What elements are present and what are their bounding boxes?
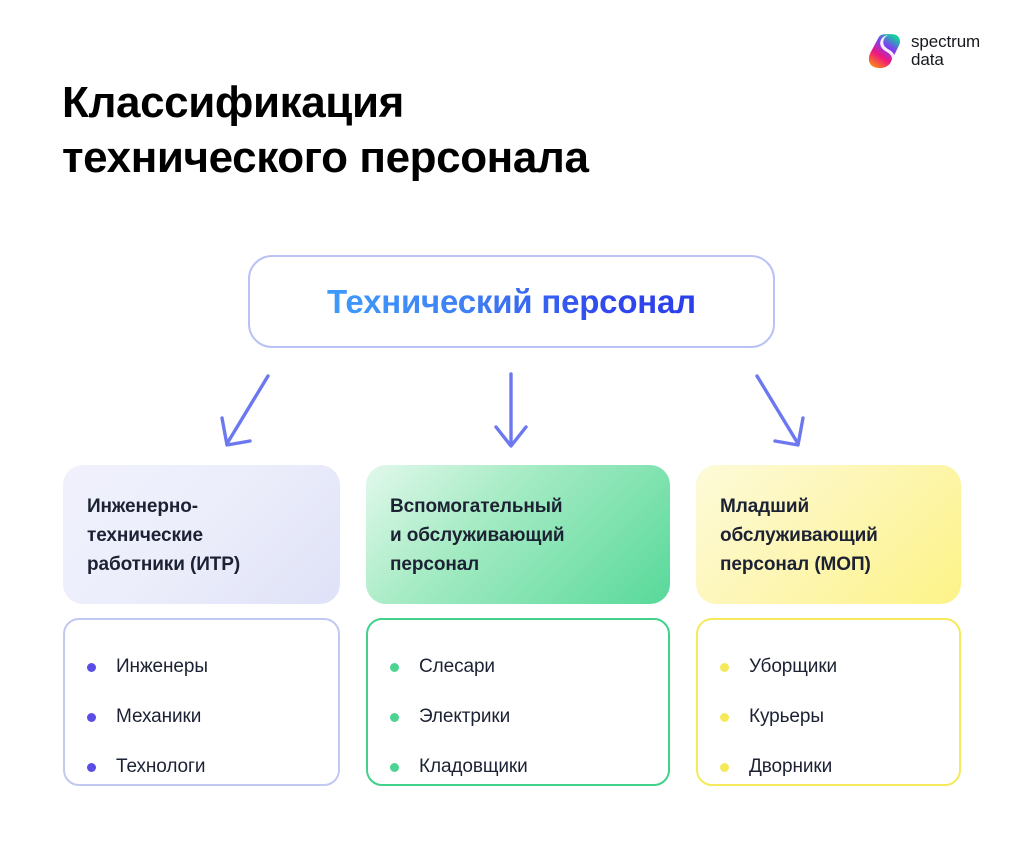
list-item-label: Дворники: [749, 756, 832, 778]
spectrum-s-mark-icon: [868, 33, 902, 69]
branch-support: Вспомогательный и обслуживающий персонал…: [366, 465, 670, 786]
list-item: Механики: [87, 692, 318, 742]
category-line: Младший: [720, 496, 809, 517]
category-line: и обслуживающий: [390, 525, 565, 546]
infographic-page: spectrum data Классификация технического…: [0, 0, 1024, 844]
bullet-icon: [87, 663, 96, 672]
bullet-icon: [390, 763, 399, 772]
category-line: Вспомогательный: [390, 496, 563, 517]
role-list-mop: Уборщики Курьеры Дворники: [696, 618, 961, 786]
page-title-line2: технического персонала: [62, 130, 762, 185]
brand-logo: spectrum data: [868, 33, 980, 69]
category-card-support: Вспомогательный и обслуживающий персонал: [366, 465, 670, 604]
page-title: Классификация технического персонала: [62, 75, 762, 186]
list-item-label: Слесари: [419, 656, 495, 678]
root-node: Технический персонал: [248, 255, 775, 348]
category-line: персонал (МОП): [720, 554, 871, 575]
role-list-support: Слесари Электрики Кладовщики: [366, 618, 670, 786]
list-item: Технологи: [87, 742, 318, 792]
list-item-label: Механики: [116, 706, 201, 728]
role-list-itr: Инженеры Механики Технологи: [63, 618, 340, 786]
arrow-to-itr: [222, 376, 268, 445]
bullet-icon: [390, 663, 399, 672]
bullet-icon: [87, 763, 96, 772]
list-item: Дворники: [720, 742, 939, 792]
category-line: работники (ИТР): [87, 554, 240, 575]
brand-name-line1: spectrum: [911, 33, 980, 51]
category-card-itr: Инженерно- технические работники (ИТР): [63, 465, 340, 604]
category-line: технические: [87, 525, 203, 546]
category-line: персонал: [390, 554, 479, 575]
bullet-icon: [87, 713, 96, 722]
list-item: Кладовщики: [390, 742, 648, 792]
list-item: Электрики: [390, 692, 648, 742]
arrow-to-mop: [757, 376, 803, 445]
category-line: обслуживающий: [720, 525, 878, 546]
list-item-label: Электрики: [419, 706, 510, 728]
category-line: Инженерно-: [87, 496, 198, 517]
category-card-mop: Младший обслуживающий персонал (МОП): [696, 465, 961, 604]
page-title-line1: Классификация: [62, 75, 762, 130]
bullet-icon: [720, 663, 729, 672]
list-item-label: Курьеры: [749, 706, 824, 728]
branch-mop: Младший обслуживающий персонал (МОП) Убо…: [696, 465, 961, 786]
list-item-label: Инженеры: [116, 656, 208, 678]
list-item: Слесари: [390, 642, 648, 692]
list-item: Уборщики: [720, 642, 939, 692]
bullet-icon: [390, 713, 399, 722]
category-label-mop: Младший обслуживающий персонал (МОП): [720, 493, 937, 580]
arrow-to-support: [496, 374, 526, 446]
category-label-itr: Инженерно- технические работники (ИТР): [87, 493, 316, 580]
list-item-label: Уборщики: [749, 656, 837, 678]
brand-name-line2: data: [911, 51, 980, 69]
bullet-icon: [720, 763, 729, 772]
list-item: Инженеры: [87, 642, 318, 692]
list-item-label: Кладовщики: [419, 756, 528, 778]
list-item-label: Технологи: [116, 756, 205, 778]
branch-itr: Инженерно- технические работники (ИТР) И…: [63, 465, 340, 786]
category-label-support: Вспомогательный и обслуживающий персонал: [390, 493, 646, 580]
list-item: Курьеры: [720, 692, 939, 742]
bullet-icon: [720, 713, 729, 722]
root-node-label: Технический персонал: [327, 283, 696, 321]
